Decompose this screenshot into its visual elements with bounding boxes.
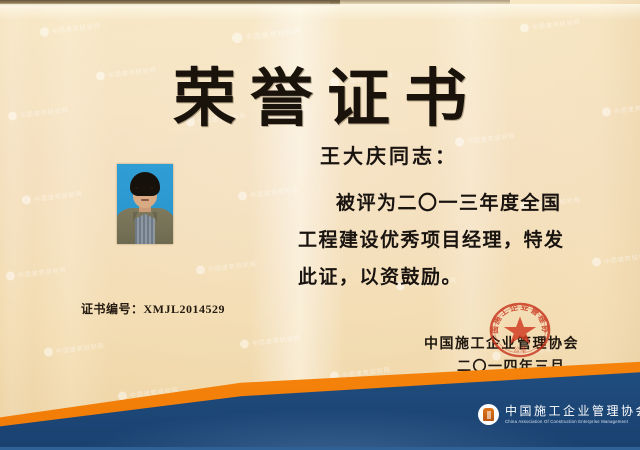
association-logo: 中国施工企业管理协会 China Association Of Construc… (478, 404, 640, 425)
issuing-organization: 中国施工企业管理协会 (424, 333, 579, 353)
photo-collar-left (133, 212, 138, 222)
recipient-id-photo (117, 164, 173, 244)
photo-eye-left (135, 187, 139, 189)
photo-collar-right (152, 212, 157, 222)
body-line-2: 工程建设优秀项目经理，特发 (298, 225, 565, 252)
photo-mouth (141, 199, 149, 201)
body-line-3: 此证，以资鼓励。 (298, 262, 462, 289)
tower-emblem-icon (478, 404, 499, 425)
body-line-1: 被评为二〇一三年度全国 (298, 188, 562, 215)
photo-hair (130, 172, 160, 196)
photo-eye-right (150, 187, 154, 189)
certificate-number: 证书编号：XMJL2014529 (81, 300, 225, 317)
recipient-name: 王大庆同志： (320, 140, 458, 169)
logo-name-en: China Association Of Construction Enterp… (505, 419, 640, 424)
logo-text-block: 中国施工企业管理协会 China Association Of Construc… (505, 405, 640, 424)
tower-glyph (483, 408, 494, 421)
top-edge-gloss (0, 4, 640, 20)
logo-name-cn: 中国施工企业管理协会 (505, 405, 640, 418)
certificate-document: 中国建筑招标网中国建筑招标网中国建筑招标网中国建筑招标网中国建筑招标网中国建筑招… (0, 0, 640, 450)
certificate-title: 荣誉证书 (0, 48, 640, 139)
